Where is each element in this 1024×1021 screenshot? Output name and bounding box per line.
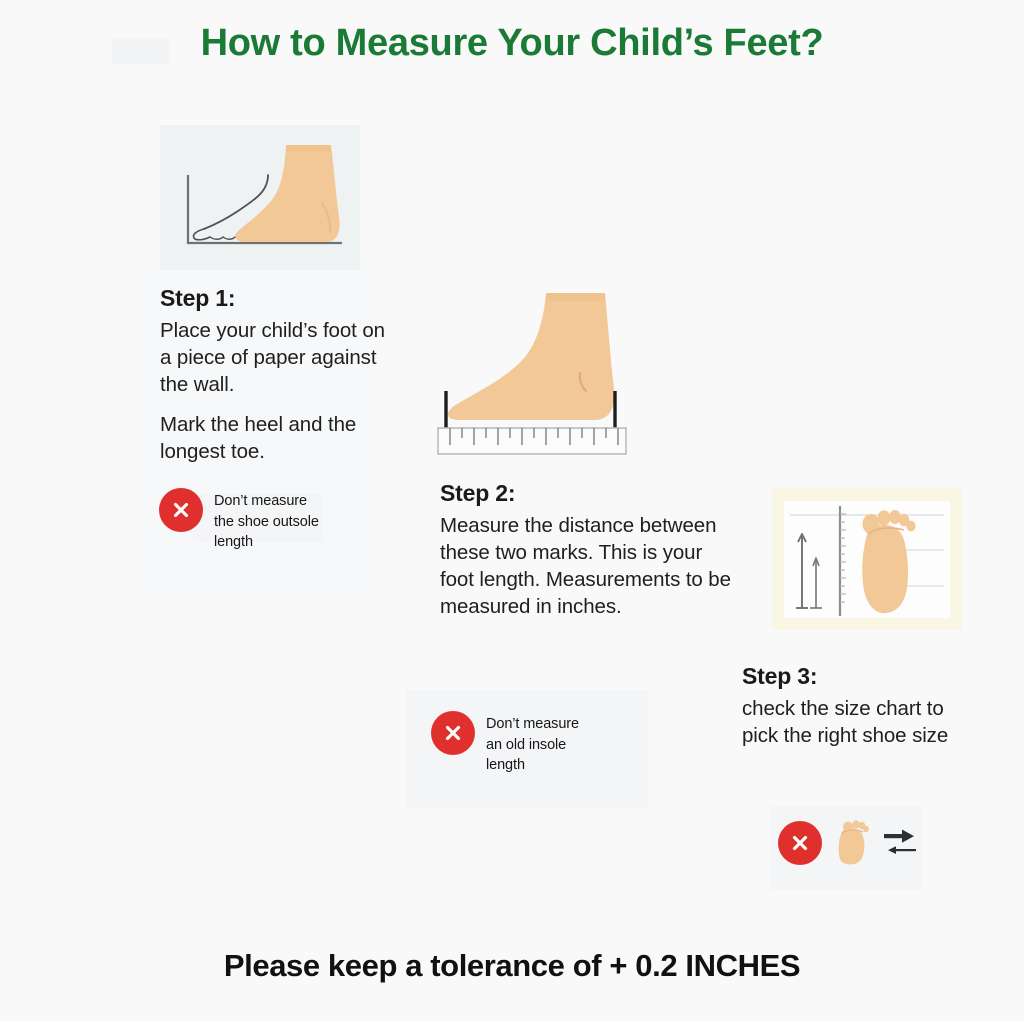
step-2-body: Measure the distance between these two m…: [440, 512, 740, 620]
big-toe: [863, 514, 880, 534]
infographic-root: How to Measure Your Child’s Feet?: [0, 0, 1024, 1021]
pressure-arrows-icon: [882, 823, 918, 863]
warning-2: Don’t measure an old insole length: [431, 711, 579, 776]
arrow-left-icon: [888, 846, 916, 854]
foot-top-view-icon: [832, 820, 872, 866]
red-x-circle-icon: [778, 821, 822, 865]
warning-2-text: Don’t measure an old insole length: [486, 711, 579, 776]
warning-1-line-2: the shoe outsole: [214, 512, 319, 533]
warning-3: [778, 820, 918, 866]
ruler-icon: [438, 428, 626, 454]
foot-shape: [448, 293, 614, 420]
step-1-paragraph-2: Mark the heel and the longest toe.: [160, 411, 390, 465]
step-1-body: Place your child’s foot on a piece of pa…: [160, 317, 390, 465]
x-mark-icon: [442, 722, 464, 744]
warning-2-line-1: Don’t measure: [486, 714, 579, 735]
warning-1-line-1: Don’t measure: [214, 491, 319, 512]
step-2-paragraph-1: Measure the distance between these two m…: [440, 512, 740, 620]
step-1-text: Step 1: Place your child’s foot on a pie…: [160, 285, 390, 465]
page-title: How to Measure Your Child’s Feet?: [0, 22, 1024, 65]
red-x-circle-icon: [431, 711, 475, 755]
step-3-heading: Step 3:: [742, 663, 974, 691]
arrow-right-icon: [884, 830, 914, 843]
step-3-illustration-panel: [772, 488, 962, 630]
x-mark-icon: [789, 832, 811, 854]
step-1-illustration-panel: [160, 125, 360, 270]
ankle-shade: [286, 145, 331, 152]
step-3-text: Step 3: check the size chart to pick the…: [742, 663, 974, 749]
foot-shape: [235, 145, 339, 242]
warning-2-line-2: an old insole: [486, 735, 579, 756]
step-3-paragraph-1: check the size chart to pick the right s…: [742, 695, 974, 749]
toe-5: [906, 521, 915, 532]
tolerance-note: Please keep a tolerance of + 0.2 INCHES: [0, 948, 1024, 984]
red-x-circle-icon: [159, 488, 203, 532]
toe-2: [878, 510, 891, 525]
foot-with-ruler-illustration: [430, 285, 645, 460]
toe-4: [863, 826, 869, 832]
warning-2-line-3: length: [486, 755, 579, 776]
step-1-paragraph-1: Place your child’s foot on a piece of pa…: [160, 317, 390, 398]
step-2-text: Step 2: Measure the distance between the…: [440, 480, 740, 620]
step-3-body: check the size chart to pick the right s…: [742, 695, 974, 749]
toe-2: [852, 820, 860, 828]
ankle-shade: [546, 293, 605, 301]
foot-against-wall-illustration: [160, 125, 360, 270]
x-mark-icon: [170, 499, 192, 521]
step-1-heading: Step 1:: [160, 285, 390, 313]
warning-1-text: Don’t measure the shoe outsole length: [214, 488, 319, 553]
warning-1-line-3: length: [214, 532, 319, 553]
sole-on-paper-illustration: [772, 488, 962, 630]
step-2-heading: Step 2:: [440, 480, 740, 508]
step-2-illustration-panel: [430, 285, 645, 460]
warning-1: Don’t measure the shoe outsole length: [159, 488, 319, 553]
